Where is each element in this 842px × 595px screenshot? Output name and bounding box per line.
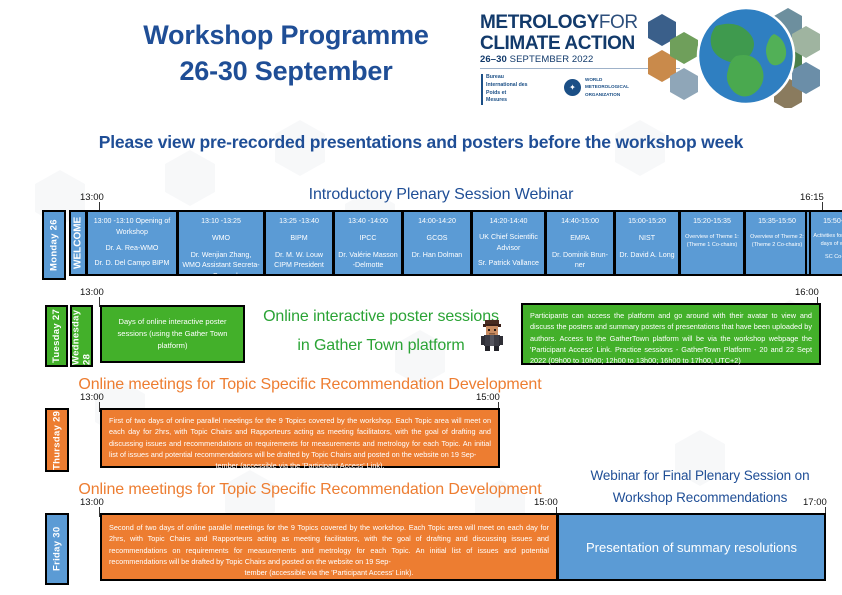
friday-resolutions-block[interactable]: Presentation of summary resolutions bbox=[557, 513, 826, 581]
session-org: EMPA bbox=[549, 233, 611, 244]
logo-for: FOR bbox=[599, 12, 638, 33]
session-speaker-1: SC Co-Chairs bbox=[813, 253, 842, 261]
logo-dates: 26–30 SEPTEMBER 2022 bbox=[480, 54, 593, 65]
tuewed-poster-block[interactable]: Days of online interactive poster sessio… bbox=[100, 305, 245, 363]
friday-meetings-text-last: tember (accessible via the 'Participant … bbox=[109, 567, 549, 578]
monday-session-9[interactable]: 15:20-15:35 Overview of Theme 1: (Theme … bbox=[679, 210, 745, 276]
globe-icon bbox=[686, 4, 806, 108]
logo-wordmark: METROLOGYFOR CLIMATE ACTION bbox=[480, 12, 638, 55]
gather-town-avatar-icon bbox=[479, 318, 505, 352]
session-time: 13:25 -13:40 bbox=[268, 216, 330, 227]
monday-session-2[interactable]: 13:10 -13:25 WMO Dr. Wenjian Zhang, WMO … bbox=[177, 210, 265, 276]
session-org: BIPM bbox=[268, 233, 330, 244]
session-time: 13:10 -13:25 bbox=[181, 216, 261, 227]
tuewed-row-title-line1: Online interactive poster sessions bbox=[251, 308, 511, 326]
session-org: UK Chief Scientific Advisor bbox=[475, 232, 542, 254]
session-time: 14:20-14:40 bbox=[475, 216, 542, 227]
tuewed-info-text: Participants can access the platform and… bbox=[530, 311, 812, 365]
subtitle-notice: Please view pre-recorded presentations a… bbox=[0, 132, 842, 153]
session-org: NIST bbox=[618, 233, 676, 244]
friday-end-tick-label: 17:00 bbox=[803, 497, 827, 508]
friday-right-title-line1: Webinar for Final Plenary Session on bbox=[570, 468, 830, 483]
thursday-row-title: Online meetings for Topic Specific Recom… bbox=[75, 376, 545, 394]
session-org: GCOS bbox=[406, 233, 468, 244]
bipm-logo: BureauInternational desPoids etMesures bbox=[481, 74, 528, 105]
day-tab-friday: Friday 30 bbox=[45, 513, 69, 585]
session-speaker-1: Dr. A. Rea-WMO bbox=[90, 243, 174, 254]
session-speaker-1: Dr. Dominik Brun-ner bbox=[549, 250, 611, 272]
session-time: 14:40-15:00 bbox=[549, 216, 611, 227]
monday-welcome-label: WELCOME bbox=[69, 210, 87, 276]
monday-session-4[interactable]: 13:40 -14:00 IPCC Dr. Valérie Masson -De… bbox=[333, 210, 403, 276]
friday-meetings-block[interactable]: Second of two days of online parallel me… bbox=[100, 513, 558, 581]
friday-right-title-line2: Workshop Recommendations bbox=[570, 490, 830, 505]
monday-session-activities-cell[interactable]: 15:50-16:00 Activities for remai-ning da… bbox=[809, 210, 842, 276]
logo-climate-action: CLIMATE ACTION bbox=[480, 33, 635, 54]
monday-session-10[interactable]: 15:35-15:50 Overview of Theme 2: (Theme … bbox=[744, 210, 810, 276]
tuewed-info-block[interactable]: Participants can access the platform and… bbox=[521, 303, 821, 365]
session-speaker-1: Dr. Han Dolman bbox=[406, 250, 468, 261]
session-org: Overview of Theme 2: bbox=[748, 233, 806, 241]
day-tab-wednesday: Wednesday 28 bbox=[70, 305, 93, 367]
session-time: 15:35-15:50 bbox=[748, 216, 806, 227]
monday-row-title: Introductory Plenary Session Webinar bbox=[241, 186, 641, 204]
session-speaker-1: Sr. Patrick Vallance bbox=[475, 258, 542, 269]
page-title: Workshop Programme 26-30 September bbox=[96, 18, 476, 89]
page-title-line1: Workshop Programme bbox=[96, 18, 476, 54]
friday-meetings-text: Second of two days of online parallel me… bbox=[109, 523, 549, 566]
wmo-logo-text: WORLDMETEOROLOGICALORGANIZATION bbox=[585, 76, 629, 98]
friday-mid-tick-label: 15:00 bbox=[534, 497, 558, 508]
session-org: Overview of Theme 1: bbox=[683, 233, 741, 241]
day-tab-tuesday: Tuesday 27 bbox=[45, 305, 68, 367]
session-time: 14:00-14:20 bbox=[406, 216, 468, 227]
monday-session-8[interactable]: 15:00-15:20 NIST Dr. David A. Long bbox=[614, 210, 680, 276]
monday-session-6[interactable]: 14:20-14:40 UK Chief Scientific Advisor … bbox=[471, 210, 546, 276]
wmo-logo: ✦ WORLDMETEOROLOGICALORGANIZATION bbox=[564, 76, 629, 98]
session-speaker-1: Dr. David A. Long bbox=[618, 250, 676, 261]
monday-session-1[interactable]: 13:00 -13:10 Opening of Workshop Dr. A. … bbox=[86, 210, 178, 276]
tuewed-start-tick-label: 13:00 bbox=[80, 287, 104, 298]
session-speaker-1: Dr. M. W. Louw CIPM President bbox=[268, 250, 330, 272]
session-time: 13:40 -14:00 bbox=[337, 216, 399, 227]
monday-end-tick-label: 16:15 bbox=[800, 192, 824, 203]
programme-poster: Workshop Programme 26-30 September METRO… bbox=[0, 0, 842, 595]
event-logo: METROLOGYFOR CLIMATE ACTION 26–30 SEPTEM… bbox=[468, 4, 842, 108]
thursday-end-tick-label: 15:00 bbox=[476, 392, 500, 403]
session-speaker-1: (Theme 2 Co-chairs) bbox=[748, 241, 806, 249]
tuewed-poster-block-text: Days of online interactive poster sessio… bbox=[112, 316, 233, 352]
monday-session-7[interactable]: 14:40-15:00 EMPA Dr. Dominik Brun-ner bbox=[545, 210, 615, 276]
session-speaker-2: Dr. D. Del Campo BIPM bbox=[90, 258, 174, 269]
session-org: IPCC bbox=[337, 233, 399, 244]
tuewed-end-tick-label: 16:00 bbox=[795, 287, 819, 298]
session-time: 15:00-15:20 bbox=[618, 216, 676, 227]
session-org: Activities for remai-ning days of worksh… bbox=[813, 232, 842, 249]
thursday-meetings-block[interactable]: First of two days of online parallel mee… bbox=[100, 408, 500, 468]
session-time: 13:00 -13:10 Opening of Workshop bbox=[90, 216, 174, 238]
session-speaker-1: (Theme 1 Co-chairs) bbox=[683, 241, 741, 249]
friday-start-tick-label: 13:00 bbox=[80, 497, 104, 508]
day-tab-monday: Monday 26 bbox=[42, 210, 66, 280]
day-tab-thursday: Thursday 29 bbox=[45, 408, 69, 472]
page-title-line2: 26-30 September bbox=[96, 54, 476, 90]
friday-resolutions-text: Presentation of summary resolutions bbox=[586, 540, 797, 555]
monday-start-tick-label: 13:00 bbox=[80, 192, 104, 203]
session-time: 15:50-16:00 bbox=[813, 216, 842, 227]
thursday-meetings-text-last: tember (accessible via the 'Participant … bbox=[109, 460, 491, 471]
session-time: 15:20-15:35 bbox=[683, 216, 741, 227]
session-speaker-1: Dr. Wenjian Zhang, WMO Assistant Secreta… bbox=[181, 250, 261, 276]
logo-metrology: METROLOGY bbox=[480, 12, 599, 33]
session-speaker-1: Dr. Valérie Masson -Delmotte bbox=[337, 250, 399, 272]
friday-row-title: Online meetings for Topic Specific Recom… bbox=[75, 481, 545, 499]
thursday-start-tick-label: 13:00 bbox=[80, 392, 104, 403]
session-org: WMO bbox=[181, 233, 261, 244]
thursday-meetings-text: First of two days of online parallel mee… bbox=[109, 416, 491, 459]
monday-session-3[interactable]: 13:25 -13:40 BIPM Dr. M. W. Louw CIPM Pr… bbox=[264, 210, 334, 276]
wmo-seal-icon: ✦ bbox=[564, 79, 581, 96]
monday-session-5[interactable]: 14:00-14:20 GCOS Dr. Han Dolman bbox=[402, 210, 472, 276]
tuewed-row-title-line2: in Gather Town platform bbox=[251, 337, 511, 355]
